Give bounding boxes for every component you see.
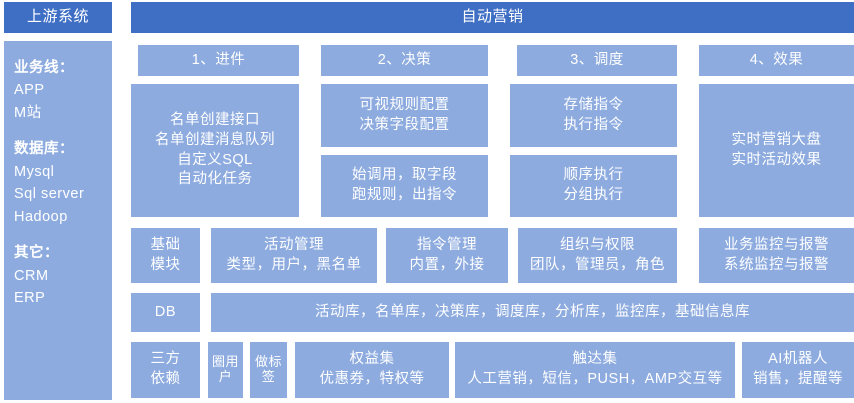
dependency-benefits-set: 权益集 优惠券，特权等 (295, 342, 449, 398)
stage-line: 名单创建消息队列 (155, 131, 275, 151)
module-detail: 系统监控与报警 (724, 256, 829, 276)
dependency-ai-robot: AI机器人 销售，提醒等 (742, 342, 854, 398)
db-content: 活动库，名单库，决策库，调度库，分析库，监控库，基础信息库 (211, 293, 854, 332)
sidebar-group-title: 其它： (14, 242, 59, 264)
stage-header-1: 1、进件 (138, 45, 299, 76)
dependency-title: AI机器人 (768, 350, 828, 370)
sidebar-group-item: APP (14, 79, 74, 101)
tag-circle-users: 圈用户 (208, 342, 243, 398)
row-label-base-module: 基础 模块 (131, 228, 200, 283)
stage-box-schedule-exec: 顺序执行 分组执行 (510, 155, 677, 217)
dependency-title: 触达集 (573, 350, 618, 370)
module-monitoring-alert: 业务监控与报警 系统监控与报警 (699, 228, 854, 283)
sidebar-group-item: ERP (14, 287, 59, 309)
stage-line: 可视规则配置 (360, 96, 450, 116)
row-label-line: 三方 (151, 350, 181, 370)
row-label-db: DB (131, 293, 200, 332)
module-detail: 内置，外接 (410, 256, 485, 276)
module-detail: 类型，用户，黑名单 (227, 256, 362, 276)
stage-line: 实时营销大盘 (732, 131, 822, 151)
row-label-third-party-dependency: 三方 依赖 (131, 342, 200, 398)
dependency-reach-set: 触达集 人工营销，短信，PUSH，AMP交互等 (455, 342, 735, 398)
row-label-line: 模块 (151, 256, 181, 276)
stage-box-decision-config: 可视规则配置 决策字段配置 (321, 84, 488, 147)
stage-line: 始调用，取字段 (352, 166, 457, 186)
dependency-detail: 优惠券，特权等 (320, 370, 425, 390)
sidebar-body: 业务线： APP M站 数据库： Mysql Sql server Hadoop… (4, 41, 112, 400)
stage-box-decision-run: 始调用，取字段 跑规则，出指令 (321, 155, 488, 217)
stage-line: 名单创建接口 (170, 111, 260, 131)
main-header: 自动营销 (131, 2, 854, 33)
module-detail: 团队，管理员，角色 (530, 256, 665, 276)
stage-line: 自定义SQL (177, 151, 253, 171)
sidebar-group-item: Mysql (14, 161, 84, 183)
dependency-title: 权益集 (350, 350, 395, 370)
stage-line: 分组执行 (564, 186, 624, 206)
stage-line: 跑规则，出指令 (352, 186, 457, 206)
stage-header-3: 3、调度 (517, 45, 677, 76)
module-title: 指令管理 (417, 236, 477, 256)
tag-make-labels: 做标签 (250, 342, 287, 398)
sidebar-group-business-line: 业务线： APP M站 (14, 57, 74, 124)
sidebar-group-title: 数据库： (14, 138, 84, 160)
stage-header-4: 4、效果 (699, 45, 854, 76)
dependency-detail: 销售，提醒等 (753, 370, 843, 390)
module-activity-management: 活动管理 类型，用户，黑名单 (211, 228, 377, 283)
module-title: 活动管理 (264, 236, 324, 256)
stage-line: 存储指令 (564, 96, 624, 116)
row-label-line: 依赖 (151, 370, 181, 390)
sidebar-group-item: Hadoop (14, 206, 84, 228)
sidebar-group-item: M站 (14, 102, 74, 124)
stage-line: 实时活动效果 (732, 151, 822, 171)
row-label-line: 基础 (151, 236, 181, 256)
stage-header-2: 2、决策 (321, 45, 488, 76)
stage-box-schedule-command: 存储指令 执行指令 (510, 84, 677, 147)
dependency-detail: 人工营销，短信，PUSH，AMP交互等 (467, 370, 722, 390)
module-title: 组织与权限 (560, 236, 635, 256)
diagram-root: 上游系统 业务线： APP M站 数据库： Mysql Sql server H… (0, 0, 854, 403)
stage-line: 顺序执行 (564, 166, 624, 186)
sidebar-group-title: 业务线： (14, 57, 74, 79)
sidebar-group-item: CRM (14, 265, 59, 287)
stage-line: 决策字段配置 (360, 116, 450, 136)
sidebar-header: 上游系统 (4, 2, 112, 33)
module-command-management: 指令管理 内置，外接 (386, 228, 508, 283)
stage-box-effect: 实时营销大盘 实时活动效果 (699, 84, 854, 217)
stage-box-intake: 名单创建接口 名单创建消息队列 自定义SQL 自动化任务 (131, 84, 299, 217)
stage-line: 执行指令 (564, 116, 624, 136)
sidebar-group-item: Sql server (14, 183, 84, 205)
module-title: 业务监控与报警 (724, 236, 829, 256)
sidebar-group-database: 数据库： Mysql Sql server Hadoop (14, 138, 84, 228)
stage-line: 自动化任务 (178, 170, 253, 190)
sidebar-group-other: 其它： CRM ERP (14, 242, 59, 309)
module-org-permission: 组织与权限 团队，管理员，角色 (518, 228, 677, 283)
